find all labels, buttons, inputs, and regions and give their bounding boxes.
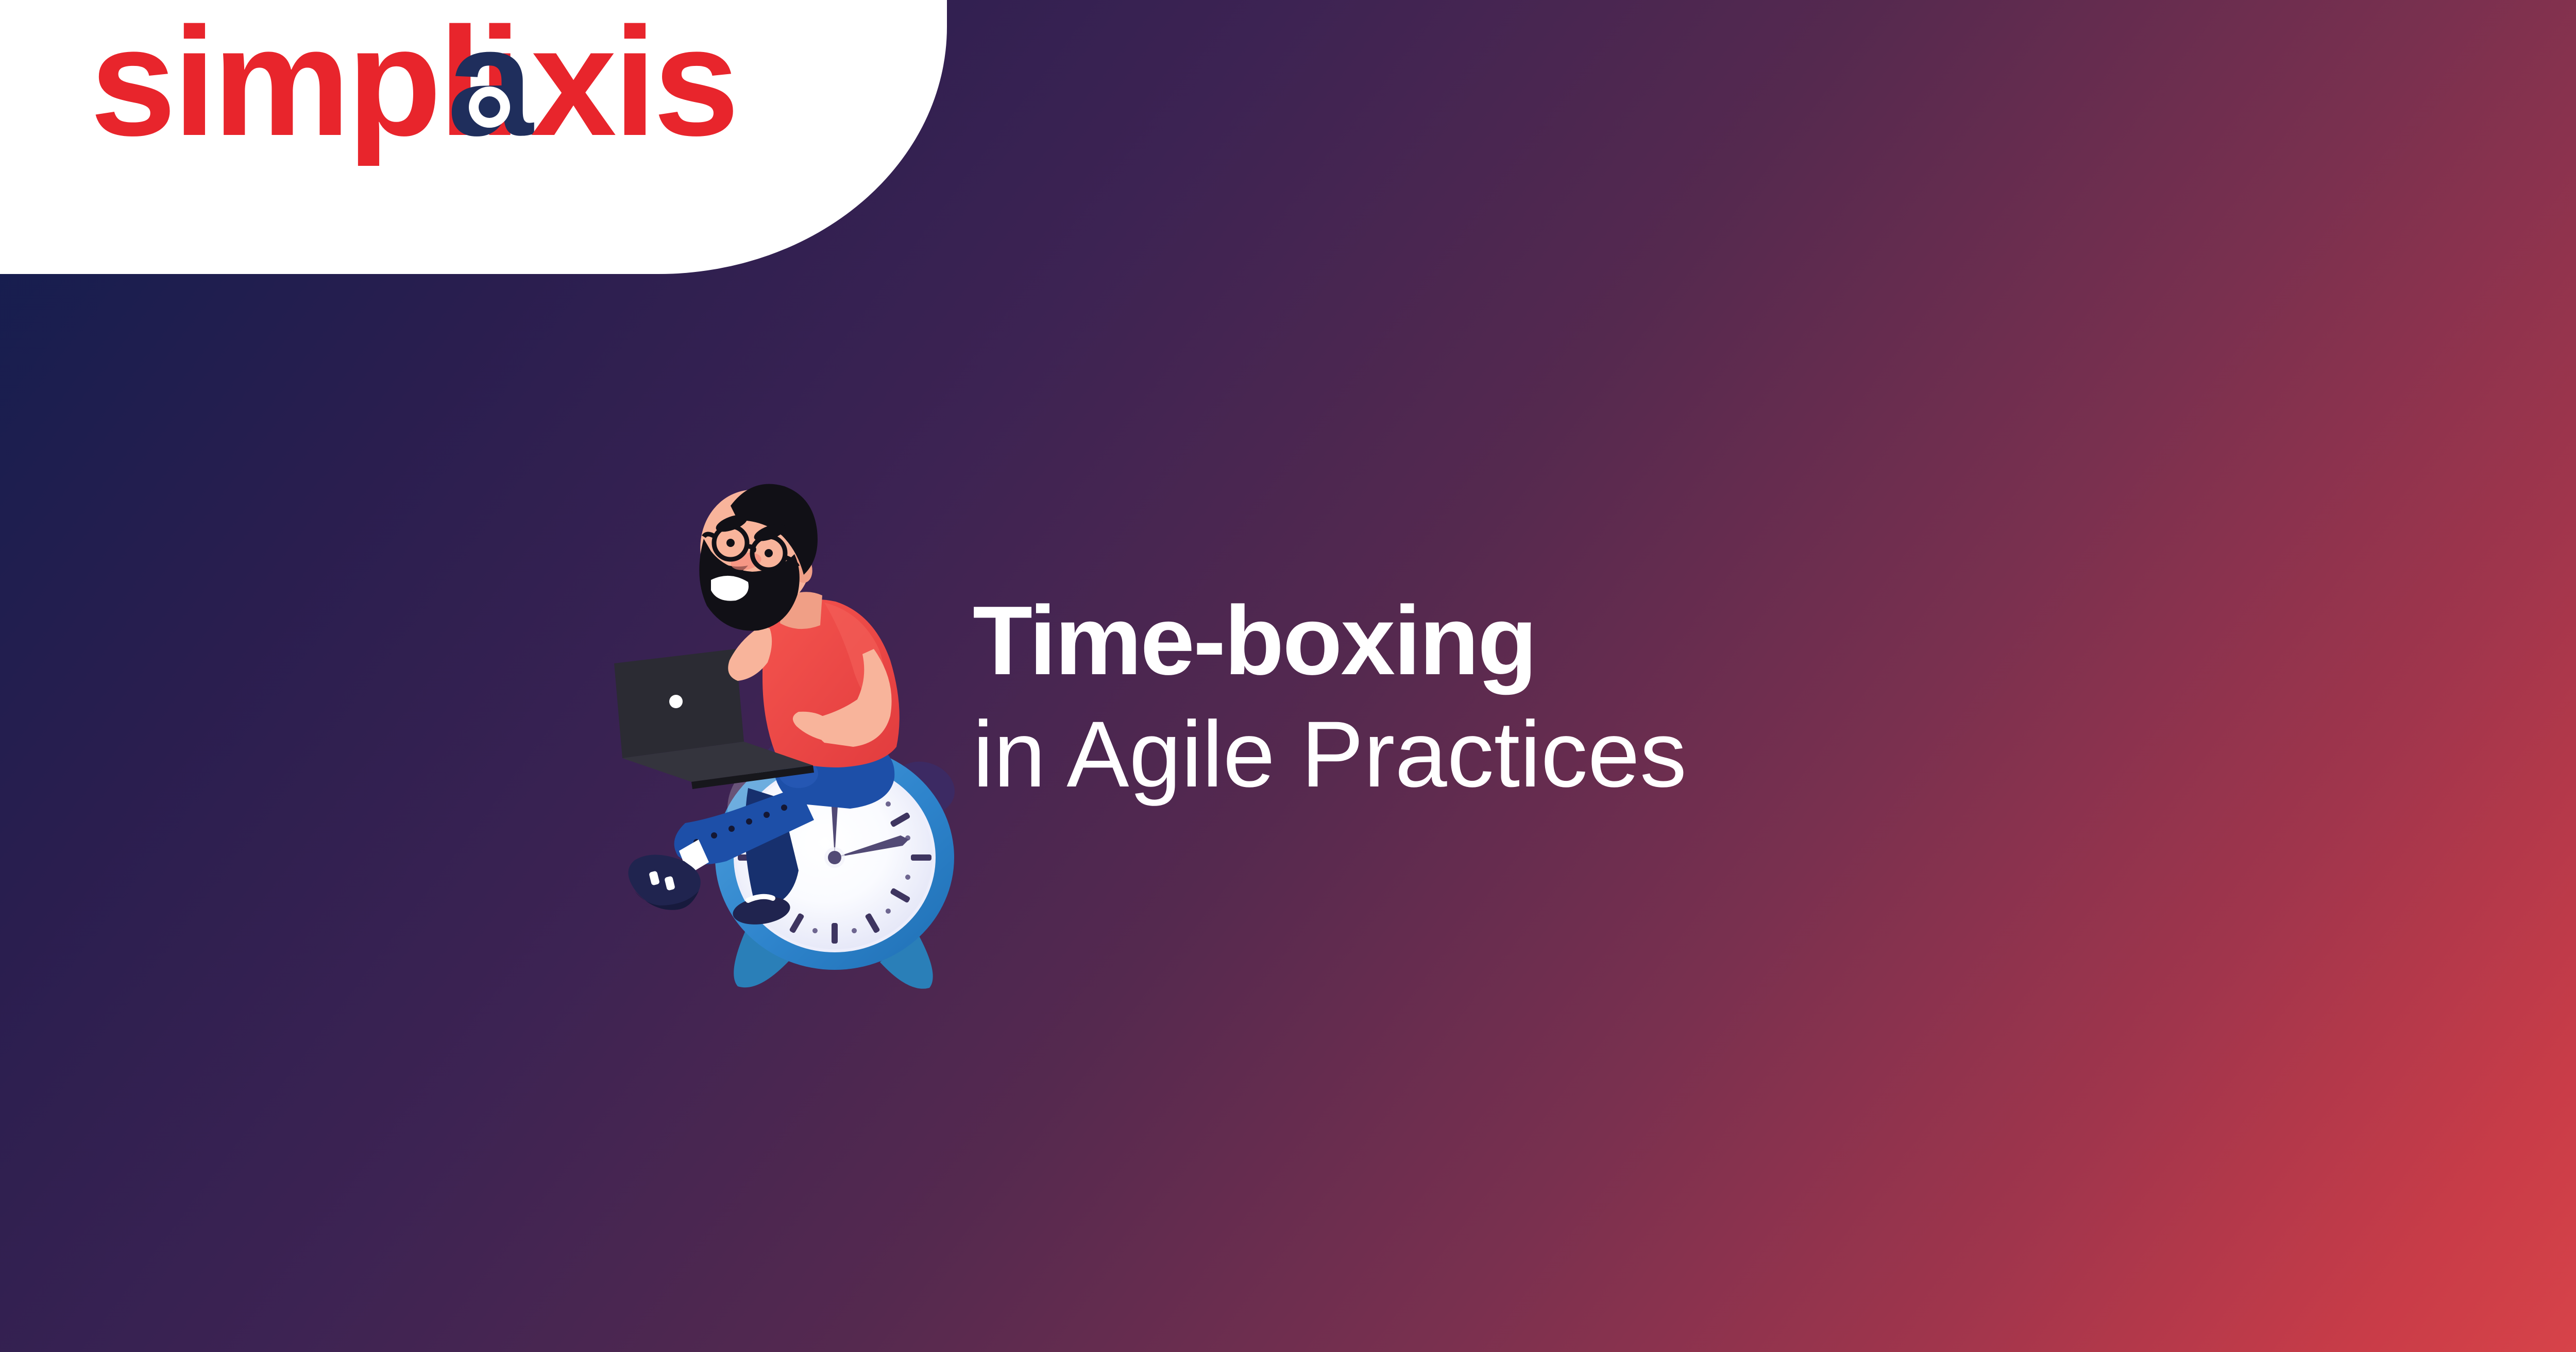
page-title: Time-boxing xyxy=(973,590,1687,693)
person-head xyxy=(687,479,825,631)
svg-text:a: a xyxy=(447,6,534,166)
page-subtitle: in Agile Practices xyxy=(973,702,1687,807)
simpliaxis-logo[interactable]: simpli a xis xyxy=(90,6,760,166)
promo-banner: simpli a xis xyxy=(0,0,2576,1352)
eye-right xyxy=(765,549,773,557)
clock-center-pin xyxy=(828,851,841,864)
logo-text-xis: xis xyxy=(531,6,736,166)
simpliaxis-logo-svg: simpli a xis xyxy=(90,6,760,166)
eye-left xyxy=(726,539,735,547)
laptop-logo-dot xyxy=(669,695,683,708)
man-on-clock-illustration xyxy=(556,479,979,1025)
logo-letter-a-navy: a xyxy=(447,6,534,166)
hero-illustration xyxy=(556,479,979,1025)
brand-logo-card[interactable]: simpli a xis xyxy=(0,0,947,274)
headline-block: Time-boxing in Agile Practices xyxy=(973,590,1687,807)
